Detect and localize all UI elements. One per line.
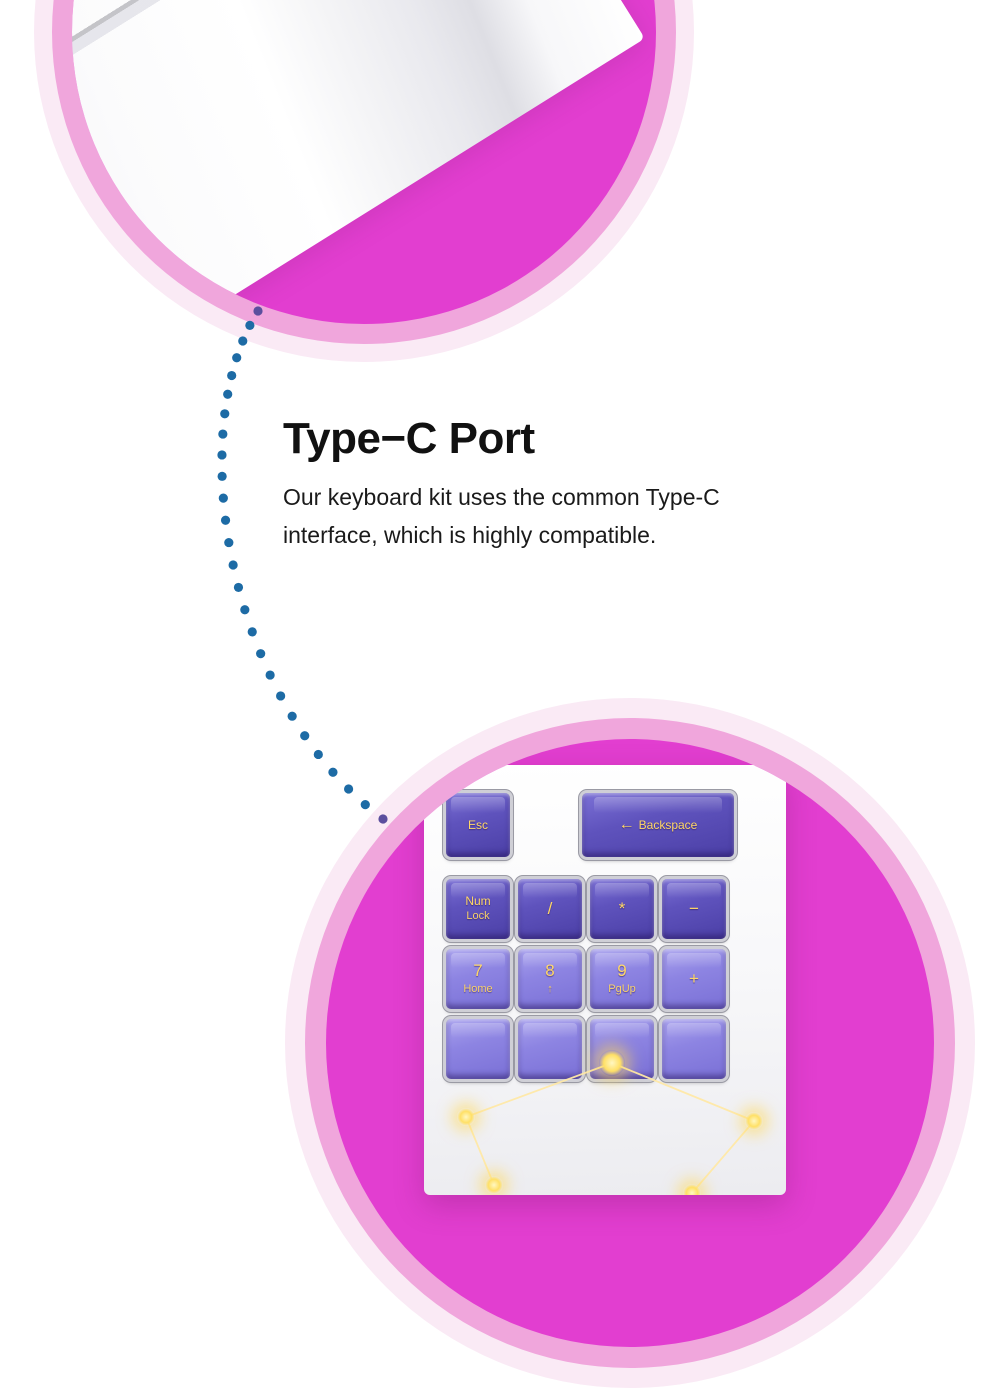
number-row-456 [446,1019,764,1079]
connector-dot [220,409,229,418]
connector-dot [219,494,228,503]
connector-dot [256,649,265,658]
key-esc[interactable]: Esc [446,793,510,857]
key-7-home-sublabel: Home [463,984,492,996]
connector-dot [232,353,241,362]
numpad-keyboard-closeup: Esc←BackspaceNumLock/*−7Home8↑9PgUp+ [326,739,934,1347]
key-num-lock[interactable]: NumLock [446,879,510,939]
key-6[interactable] [590,1019,654,1079]
connector-dot [218,429,227,438]
key-5[interactable] [518,1019,582,1079]
connector-dot [240,605,249,614]
connector-dot [314,750,323,759]
key-minus-label: − [689,900,699,918]
function-row: Esc←Backspace [446,793,764,857]
connector-dot [300,731,309,740]
key-esc-label: Esc [468,819,488,832]
key-9-pgup[interactable]: 9PgUp [590,949,654,1009]
key-plus-label: + [689,970,699,988]
callout-top-photo [72,0,656,324]
connector-dot [288,712,297,721]
connector-dot [223,390,232,399]
callout-text-block: Type−C Port Our keyboard kit uses the co… [283,415,883,554]
key-plus-lower[interactable] [662,1019,726,1079]
callout-bottom-photo: Esc←BackspaceNumLock/*−7Home8↑9PgUp+ [326,739,934,1347]
key-7-home[interactable]: 7Home [446,949,510,1009]
key-asterisk-label: * [619,900,626,918]
key-8-up-label: 8 [545,962,554,980]
connector-dot [234,583,243,592]
key-8-up[interactable]: 8↑ [518,949,582,1009]
key-backspace[interactable]: ←Backspace [582,793,734,857]
description-line-2: interface, which is highly compatible. [283,522,656,548]
key-7-home-label: 7 [473,962,482,980]
key-asterisk[interactable]: * [590,879,654,939]
key-9-pgup-label: 9 [617,962,626,980]
key-9-pgup-sublabel: PgUp [608,984,636,996]
keyboard-body: Esc←BackspaceNumLock/*−7Home8↑9PgUp+ [424,765,786,1195]
connector-dot [218,472,227,481]
description-text: Our keyboard kit uses the common Type-C … [283,479,873,554]
connector-dot [229,560,238,569]
connector-dot [221,516,230,525]
connector-dot [224,538,233,547]
connector-dot [227,371,236,380]
key-num-lock-label: Num [465,895,490,908]
description-line-1: Our keyboard kit uses the common Type-C [283,484,720,510]
key-backspace-label: Backspace [639,819,698,832]
connector-dot [248,627,257,636]
usb-c-port-closeup [72,0,656,324]
connector-dot [266,670,275,679]
canvas: Esc←BackspaceNumLock/*−7Home8↑9PgUp+ Typ… [0,0,1000,1086]
key-slash-label: / [548,900,553,918]
operator-row: NumLock/*− [446,879,764,939]
chassis-seam-line [72,0,644,318]
connector-dot [276,691,285,700]
key-minus[interactable]: − [662,879,726,939]
connector-dot [217,450,226,459]
number-row-789: 7Home8↑9PgUp+ [446,949,764,1009]
key-plus[interactable]: + [662,949,726,1009]
key-slash[interactable]: / [518,879,582,939]
page-title: Type−C Port [283,415,883,463]
key-8-up-sublabel: ↑ [547,984,553,996]
arrow-left-icon: ← [619,817,635,833]
key-4[interactable] [446,1019,510,1079]
key-num-lock-sublabel: Lock [466,911,489,923]
